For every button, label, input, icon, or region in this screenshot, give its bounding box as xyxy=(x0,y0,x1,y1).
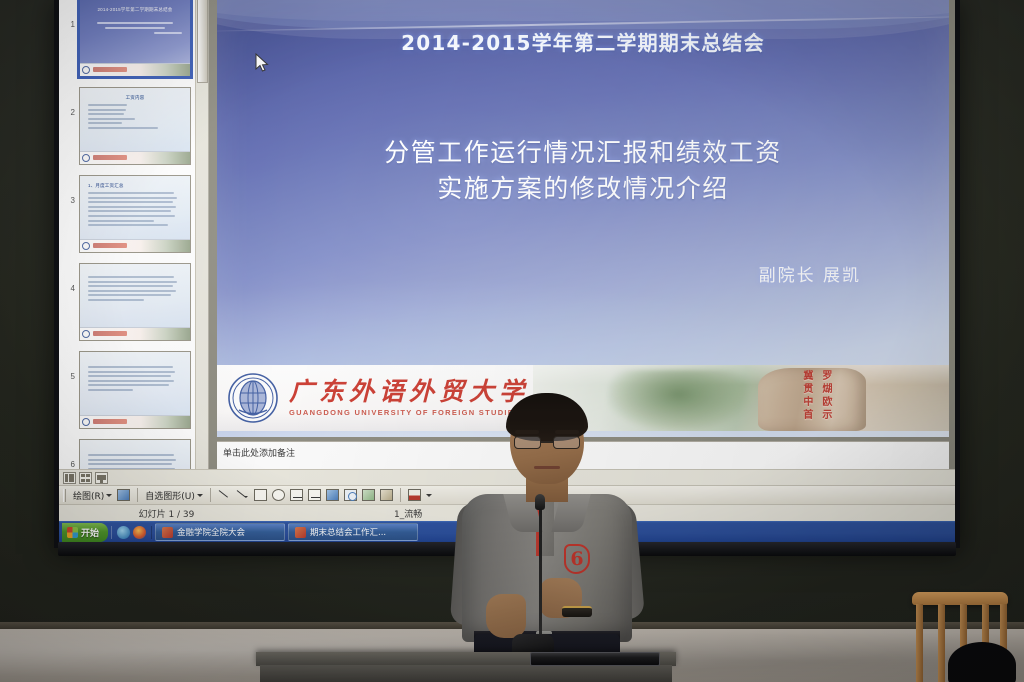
autoshapes-menu-label: 自选图形(U) xyxy=(145,489,195,502)
slide-sorter-view-icon[interactable] xyxy=(79,472,92,484)
globe-icon xyxy=(82,66,90,74)
thumbnail-lines xyxy=(80,13,190,34)
slide-title[interactable]: 2014-2015学年第二学期期末总结会 xyxy=(217,27,949,56)
slide-body-line-2: 实施方案的修改情况介绍 xyxy=(217,171,949,207)
word-art-icon[interactable] xyxy=(326,489,339,501)
thumbnail-lines xyxy=(80,101,190,129)
chevron-down-icon xyxy=(106,494,112,497)
laptop xyxy=(530,652,660,666)
text-box-icon[interactable] xyxy=(290,489,303,501)
powerpoint-icon xyxy=(162,527,173,538)
thumbnail-row[interactable]: 1 2014-2015学年第二学期期末总结会 xyxy=(65,0,192,77)
thumbnail-slide-6[interactable] xyxy=(79,439,191,469)
thumbnail-number: 3 xyxy=(65,175,75,205)
thumbnail-lines xyxy=(80,352,190,391)
thumbnail-row[interactable]: 6 xyxy=(65,439,192,469)
arrow-icon[interactable] xyxy=(236,489,249,501)
university-logo-icon xyxy=(227,372,279,424)
eyebrow-left xyxy=(515,430,539,434)
thumbnail-footer xyxy=(80,63,190,76)
thumbnail-row[interactable]: 4 xyxy=(65,263,192,341)
thumbnail-number: 4 xyxy=(65,263,75,293)
diagram-icon[interactable] xyxy=(344,489,357,501)
current-slide[interactable]: 2014-2015学年第二学期期末总结会 分管工作运行情况汇报和绩效工资 实施方… xyxy=(217,0,949,437)
thumbnail-slide-4[interactable] xyxy=(79,263,191,341)
thumbnail-lines xyxy=(80,440,190,469)
fill-color-icon[interactable] xyxy=(408,489,421,501)
thumbnail-banner-text xyxy=(93,67,127,72)
chair-spindle xyxy=(916,604,923,682)
toolbar-separator xyxy=(400,488,401,502)
toolbar-separator xyxy=(210,488,211,502)
wooden-chair xyxy=(904,592,1014,682)
globe-icon xyxy=(82,330,90,338)
toolbar-separator xyxy=(137,488,138,502)
thumbnail-row[interactable]: 3 1、月度工资汇总 xyxy=(65,175,192,253)
thumbnail-slide-1[interactable]: 2014-2015学年第二学期期末总结会 xyxy=(79,0,191,77)
internet-explorer-icon[interactable] xyxy=(117,526,130,539)
windows-flag-icon xyxy=(67,527,78,538)
thumbnail-banner-text xyxy=(93,155,127,160)
eyebrow-right xyxy=(555,430,579,434)
thumbnail-lines xyxy=(80,264,190,301)
start-button-label: 开始 xyxy=(81,526,99,539)
thumbnail-footer xyxy=(80,327,190,340)
vertical-text-box-icon[interactable] xyxy=(308,489,321,501)
thumbnail-slide-3[interactable]: 1、月度工资汇总 xyxy=(79,175,191,253)
thumbnail-list: 1 2014-2015学年第二学期期末总结会 xyxy=(59,0,208,469)
thumbnail-slide-2[interactable]: 工资内容 xyxy=(79,87,191,165)
mouse-cursor-icon xyxy=(255,53,269,73)
stone-carving-text: 冀贯中首 罗煳欧示 xyxy=(770,370,862,425)
mouth xyxy=(534,466,560,469)
thumbnail-number: 5 xyxy=(65,351,75,381)
slide-stage[interactable]: 2014-2015学年第二学期期末总结会 分管工作运行情况汇报和绩效工资 实施方… xyxy=(209,0,955,437)
draw-menu-label: 绘图(R) xyxy=(73,489,104,502)
globe-icon xyxy=(82,154,90,162)
rectangle-icon[interactable] xyxy=(254,489,267,501)
thumbnail-lines xyxy=(80,189,190,226)
thumbnail-footer xyxy=(80,239,190,252)
glasses-bridge xyxy=(541,441,553,443)
draw-menu[interactable]: 绘图(R) xyxy=(73,489,112,502)
microphone-stand xyxy=(539,502,542,652)
taskbar-task-1[interactable]: 金融学院全院大会 xyxy=(155,523,285,541)
presenter-person: 6 xyxy=(452,398,642,682)
wristwatch xyxy=(562,606,592,617)
thumbnail-row[interactable]: 5 xyxy=(65,351,192,429)
conference-room-scene: 1 2014-2015学年第二学期期末总结会 xyxy=(0,0,1024,682)
line-icon[interactable] xyxy=(218,489,231,501)
taskbar-task-1-label: 金融学院全院大会 xyxy=(177,526,245,538)
firefox-icon[interactable] xyxy=(133,526,146,539)
shirt-logo: 6 xyxy=(564,544,590,574)
chair-spindle xyxy=(938,604,945,682)
chevron-down-icon[interactable] xyxy=(426,494,432,497)
thumbnail-number: 2 xyxy=(65,87,75,117)
left-hand xyxy=(486,594,526,638)
carving-column-1: 罗煳欧示 xyxy=(818,370,833,425)
scrollbar-thumb[interactable] xyxy=(197,0,208,83)
toolbar-grip[interactable] xyxy=(63,489,66,502)
quick-launch-bar xyxy=(111,526,152,539)
slide-body[interactable]: 分管工作运行情况汇报和绩效工资 实施方案的修改情况介绍 xyxy=(217,135,949,208)
thumbnail-footer xyxy=(80,415,190,428)
normal-view-icon[interactable] xyxy=(63,472,76,484)
chevron-down-icon xyxy=(197,494,203,497)
slide-presenter-name[interactable]: 副院长 展凯 xyxy=(759,261,861,286)
thumbnail-footer xyxy=(80,151,190,164)
podium-front-panel xyxy=(260,665,672,682)
thumbnail-number: 6 xyxy=(65,439,75,469)
select-objects-icon[interactable] xyxy=(117,489,130,501)
autoshapes-menu[interactable]: 自选图形(U) xyxy=(145,489,203,502)
lens-left xyxy=(514,436,541,449)
oval-icon[interactable] xyxy=(272,489,285,501)
thumbnail-row[interactable]: 2 工资内容 xyxy=(65,87,192,165)
thumbnail-number: 1 xyxy=(65,0,75,29)
thumbnail-banner-text xyxy=(93,331,127,336)
glasses-icon xyxy=(514,436,580,449)
lens-right xyxy=(553,436,580,449)
microphone-icon xyxy=(535,494,545,510)
slide-body-line-1: 分管工作运行情况汇报和绩效工资 xyxy=(217,135,949,171)
slide-counter: 幻灯片 1 / 39 xyxy=(59,507,274,520)
globe-icon xyxy=(82,242,90,250)
audience-head-silhouette xyxy=(948,642,1016,682)
picture-icon[interactable] xyxy=(380,489,393,501)
thumbnail-banner-text xyxy=(93,419,127,424)
slide-thumbnail-pane[interactable]: 1 2014-2015学年第二学期期末总结会 xyxy=(59,0,209,469)
globe-icon xyxy=(82,418,90,426)
thumbnail-scrollbar[interactable] xyxy=(195,0,208,469)
taskbar-task-2[interactable]: 期末总结会工作汇... xyxy=(288,523,418,541)
thumbnail-banner-text xyxy=(93,243,127,248)
carving-column-2: 冀贯中首 xyxy=(799,370,814,425)
podium xyxy=(256,652,676,682)
clip-art-icon[interactable] xyxy=(362,489,375,501)
thumbnail-slide-5[interactable] xyxy=(79,351,191,429)
start-button[interactable]: 开始 xyxy=(62,523,108,542)
taskbar-task-2-label: 期末总结会工作汇... xyxy=(310,526,386,538)
slide-show-view-icon[interactable] xyxy=(95,472,108,484)
powerpoint-icon xyxy=(295,527,306,538)
